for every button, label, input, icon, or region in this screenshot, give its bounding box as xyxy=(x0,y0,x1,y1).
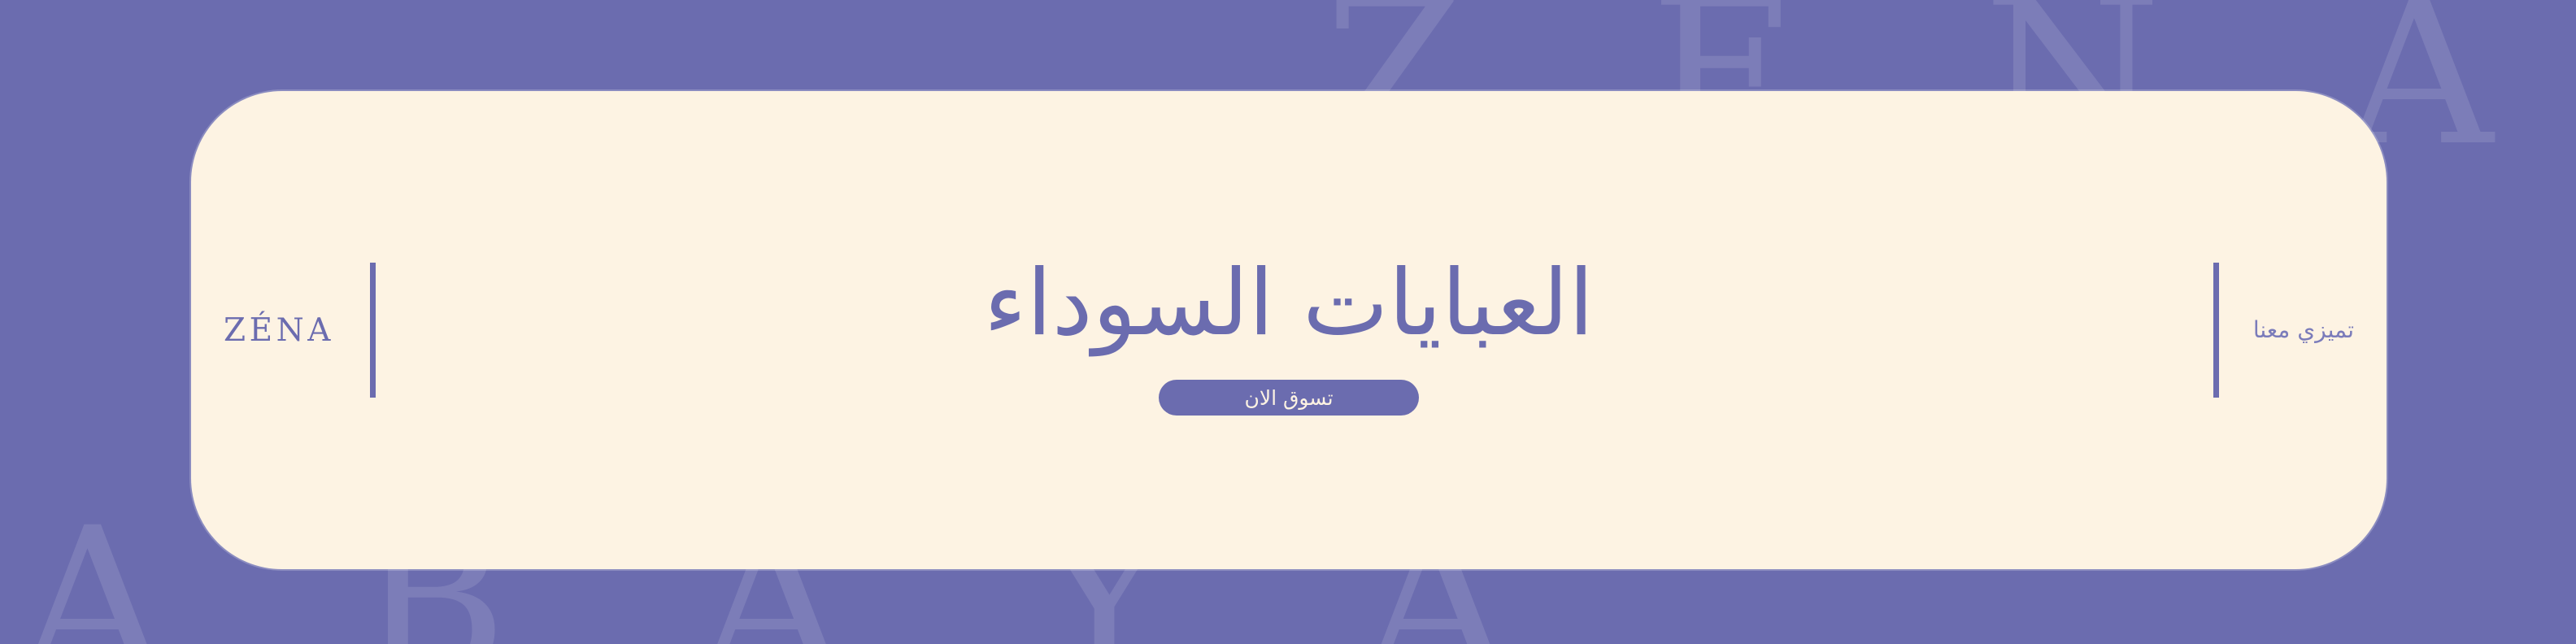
tagline-block: تميزي معنا xyxy=(1769,263,2354,398)
vertical-divider-left xyxy=(2213,263,2219,398)
brand-block: ZÉNA xyxy=(224,263,809,398)
promo-banner: Z E N A A B A Y A ZÉNA العبايات السوداء … xyxy=(0,0,2576,644)
headline-block: العبايات السوداء تسوق الان xyxy=(809,250,1769,416)
card-content-row: ZÉNA العبايات السوداء تسوق الان تميزي مع… xyxy=(191,91,2387,569)
vertical-divider-right xyxy=(370,263,376,398)
banner-card: ZÉNA العبايات السوداء تسوق الان تميزي مع… xyxy=(191,91,2387,569)
shop-now-button[interactable]: تسوق الان xyxy=(1159,380,1419,416)
page-title: العبايات السوداء xyxy=(984,250,1594,357)
brand-logo: ZÉNA xyxy=(224,315,334,346)
tagline-text: تميزي معنا xyxy=(2253,319,2354,342)
